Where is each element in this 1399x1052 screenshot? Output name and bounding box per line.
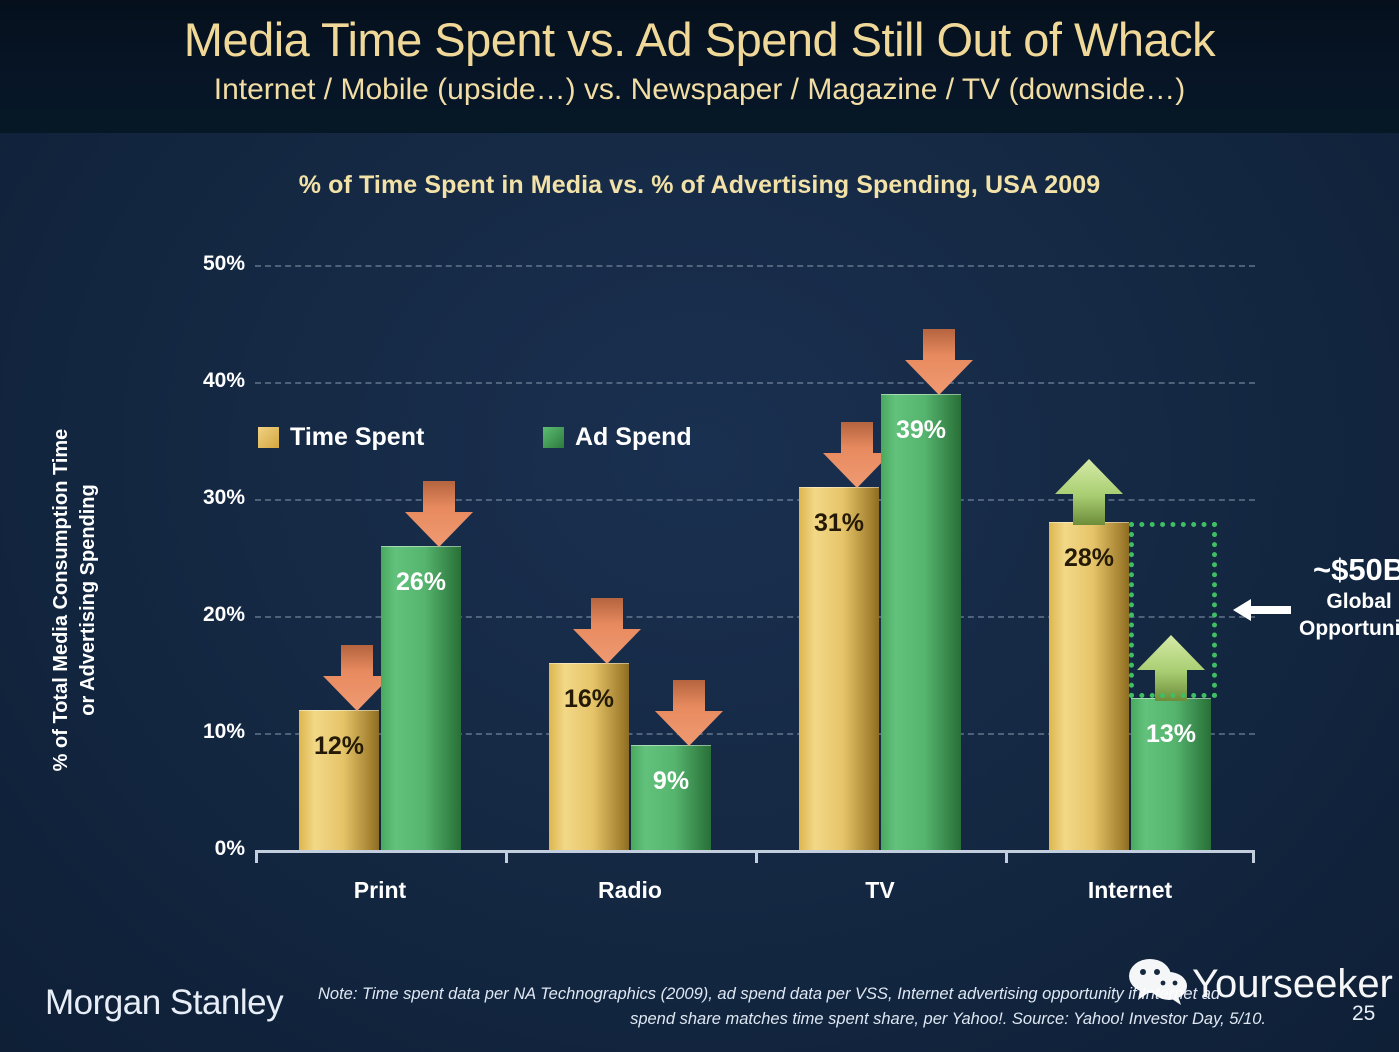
wechat-icon [1128,958,1188,1011]
y-axis-tick-label: 40% [203,369,245,393]
bar-tv-ad-spend [881,394,961,850]
bar-value-label: 28% [1049,544,1129,573]
legend-label: Time Spent [290,423,424,452]
y-axis-tick-label: 10% [203,720,245,744]
watermark: Yourseeker [1128,958,1393,1011]
arrow-down-icon [902,326,976,398]
y-axis-tick-label: 30% [203,486,245,510]
y-axis-title: % of Total Media Consumption Time or Adv… [48,365,102,835]
bar-value-label: 26% [381,568,461,597]
opportunity-amount: ~$50B [1299,552,1399,588]
brand-logo: Morgan Stanley [45,983,283,1023]
bar-value-label: 16% [549,685,629,714]
bar-value-label: 39% [881,416,961,445]
arrow-down-icon [652,677,726,749]
slide-header: Media Time Spent vs. Ad Spend Still Out … [0,0,1399,133]
bar-value-label: 13% [1131,720,1211,749]
opportunity-label-line2: Opportunity [1299,615,1399,642]
legend-item-ad-spend[interactable]: Ad Spend [543,423,692,452]
opportunity-annotation: ~$50BGlobalOpportunity [1299,552,1399,642]
gridline [255,265,1255,267]
y-axis-tick-label: 50% [203,252,245,276]
arrow-up-icon [1052,456,1126,528]
slide-body: % of Time Spent in Media vs. % of Advert… [0,133,1399,1052]
arrow-down-icon [402,478,476,550]
y-axis-title-line2: or Advertising Spending [77,484,99,716]
bar-value-label: 12% [299,732,379,761]
axis-end-cap [1252,850,1255,863]
gridline [255,382,1255,384]
x-axis-tick [755,850,758,863]
x-axis-category-internet: Internet [1088,877,1172,904]
y-axis-tick-label: 0% [215,837,245,861]
legend-swatch [258,427,279,448]
axis-end-cap [255,850,258,863]
bar-value-label: 31% [799,509,879,538]
x-axis-tick [505,850,508,863]
x-axis-category-radio: Radio [598,877,662,904]
chart-plot-area: 0%10%20%30%40%50%12%26%Print16%9%Radio31… [255,265,1255,850]
x-axis-category-print: Print [354,877,406,904]
bar-tv-time-spent [799,487,879,850]
y-axis-title-line1: % of Total Media Consumption Time [50,429,72,772]
opportunity-label-line1: Global [1299,588,1399,615]
bar-radio-ad-spend [631,745,711,850]
watermark-label: Yourseeker [1192,962,1393,1007]
bar-value-label: 9% [631,767,711,796]
arrow-down-icon [570,595,644,667]
legend-label: Ad Spend [575,423,692,452]
page-title: Media Time Spent vs. Ad Spend Still Out … [0,0,1399,70]
pointer-arrow-icon [1233,594,1293,631]
legend-swatch [543,427,564,448]
legend-item-time-spent[interactable]: Time Spent [258,423,424,452]
opportunity-gap-box [1129,522,1217,698]
x-axis-category-tv: TV [865,877,894,904]
x-axis-tick [1005,850,1008,863]
y-axis-tick-label: 20% [203,603,245,627]
chart-title: % of Time Spent in Media vs. % of Advert… [0,171,1399,200]
page-subtitle: Internet / Mobile (upside…) vs. Newspape… [0,70,1399,110]
